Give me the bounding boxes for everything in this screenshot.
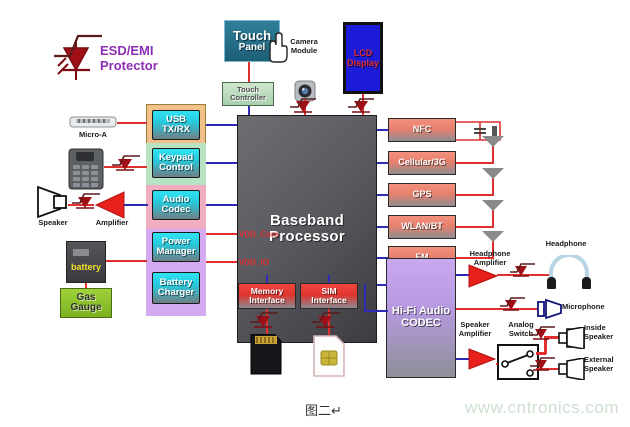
battery-label: battery — [71, 262, 101, 272]
block-audio-codec[interactable]: Audio Codec — [152, 190, 200, 220]
wire-wlanbt-antenna — [456, 226, 494, 228]
rail-vdd-io-label: VDD_IO — [239, 258, 299, 267]
wire-bb-cellular — [377, 162, 388, 164]
wire-bb-nfc — [377, 129, 388, 131]
esd-protector-icon-inside-speaker — [528, 324, 558, 344]
wire-battery-power — [106, 260, 147, 262]
antenna-icon-cellular — [482, 136, 504, 148]
block-keypad-control[interactable]: Keypad Control — [152, 148, 200, 178]
antenna-icon-gps — [482, 168, 504, 180]
block-usb-txrx[interactable]: USB TX/RX — [152, 110, 200, 140]
amplifier-icon-left — [94, 191, 126, 219]
micro-a-connector-icon — [69, 114, 117, 130]
keypad-line2: Control — [159, 163, 193, 173]
amplifier-icon-headphone — [468, 264, 498, 288]
watermark: www.cntronics.com — [465, 398, 619, 418]
esd-legend-line2: Protector — [100, 59, 180, 74]
block-diagram-canvas: ESD/EMI Protector Touch Panel Touch Cont… — [0, 0, 630, 427]
wire-gps-antenna — [456, 194, 494, 196]
sim-line2: Interface — [311, 296, 346, 305]
wire-battery-bb — [206, 261, 237, 263]
wire-amp-audiocodec — [124, 204, 148, 206]
touch-controller-line2: Controller — [230, 94, 266, 102]
wire-usb-bb — [206, 124, 237, 126]
nfc-label: NFC — [413, 125, 432, 134]
audiocodec-line2: Codec — [161, 205, 190, 215]
battery-icon: battery — [66, 241, 106, 283]
microphone-label: Microphone — [562, 303, 622, 312]
block-touch-controller[interactable]: Touch Controller — [222, 82, 274, 106]
block-wlan-bt[interactable]: WLAN/BT — [388, 215, 456, 239]
esd-emi-legend: ESD/EMI Protector — [44, 26, 174, 88]
wire-bb-codec-v — [364, 284, 366, 312]
wire-microa-usb — [117, 122, 147, 124]
batt-line2: Charger — [158, 288, 194, 298]
keypad-icon — [68, 148, 104, 190]
rail-vdd-core-label: VDD_Core — [239, 230, 299, 239]
microsd-card-icon — [248, 334, 284, 376]
inside-speaker-icon — [558, 327, 586, 349]
block-gas-gauge[interactable]: Gas Gauge — [60, 288, 112, 318]
wire-power-bb — [206, 233, 237, 235]
wire-bb-simif — [328, 275, 330, 283]
wire-keypad-bb — [206, 162, 237, 164]
mem-line2: Interface — [249, 296, 284, 305]
usb-line2: TX/RX — [162, 125, 190, 135]
codec-line2: CODEC — [401, 318, 441, 330]
esd-protector-icon-headphone — [508, 261, 538, 281]
inside-speaker-label: Inside Speaker — [584, 324, 630, 341]
block-nfc[interactable]: NFC — [388, 118, 456, 142]
wire-touchpanel-controller — [248, 62, 250, 82]
external-speaker-icon — [558, 358, 586, 380]
speaker-label: Speaker — [33, 219, 73, 228]
amplifier-label: Amplifier — [90, 219, 134, 228]
wire-bb-codec-h2 — [364, 310, 388, 312]
sim-card-icon — [312, 334, 346, 378]
speaker-amplifier-label: Speaker Amplifier — [452, 321, 498, 338]
esd-protector-icon-microphone — [498, 295, 528, 315]
wire-cellular-antenna — [456, 162, 494, 164]
block-hifi-audio-codec[interactable]: Hi-Fi Audio CODEC — [386, 258, 456, 378]
gps-label: GPS — [412, 190, 431, 199]
wire-bb-codec-h — [377, 284, 387, 286]
external-speaker-label: External Speaker — [584, 356, 630, 373]
block-gps[interactable]: GPS — [388, 183, 456, 207]
lcd-line2: Display — [347, 58, 379, 68]
antenna-icon-wlanbt — [482, 200, 504, 212]
wlanbt-label: WLAN/BT — [401, 222, 443, 231]
block-battery-charger[interactable]: Battery Charger — [152, 272, 200, 304]
headphone-label: Headphone — [536, 240, 596, 249]
camera-module-label: Camera Module — [278, 38, 330, 55]
figure-caption: 图二↵ — [305, 400, 365, 419]
block-power-manager[interactable]: Power Manager — [152, 232, 200, 262]
block-memory-interface[interactable]: Memory Interface — [238, 283, 296, 309]
micro-a-label: Micro-A — [69, 131, 117, 140]
esd-protector-icon-memory — [248, 310, 282, 332]
antenna-icon-fm — [482, 231, 504, 243]
gas-line2: Gauge — [70, 303, 101, 314]
wire-bb-gps — [377, 194, 388, 196]
speaker-icon-left — [36, 185, 70, 219]
cellular-label: Cellular/3G — [398, 158, 446, 167]
block-lcd-display[interactable]: LCD Display — [343, 22, 383, 94]
esd-protector-icon-keypad — [110, 153, 144, 175]
wire-bb-wlanbt — [377, 226, 388, 228]
wire-bb-memif — [266, 275, 268, 283]
esd-protector-icon-external-speaker — [528, 355, 558, 375]
headphone-icon — [545, 255, 593, 289]
baseband-line1: Baseband — [270, 213, 344, 229]
tvs-diode-icon — [44, 26, 106, 84]
esd-legend-line1: ESD/EMI — [100, 44, 180, 59]
microphone-icon — [537, 298, 563, 320]
lcd-line1: LCD — [354, 48, 373, 58]
block-sim-interface[interactable]: SIM Interface — [300, 283, 358, 309]
block-cellular-3g[interactable]: Cellular/3G — [388, 151, 456, 175]
power-line2: Manager — [156, 247, 195, 257]
wire-audio-bb — [206, 204, 237, 206]
amplifier-icon-speaker — [468, 348, 496, 370]
esd-protector-icon-sim — [310, 310, 344, 332]
